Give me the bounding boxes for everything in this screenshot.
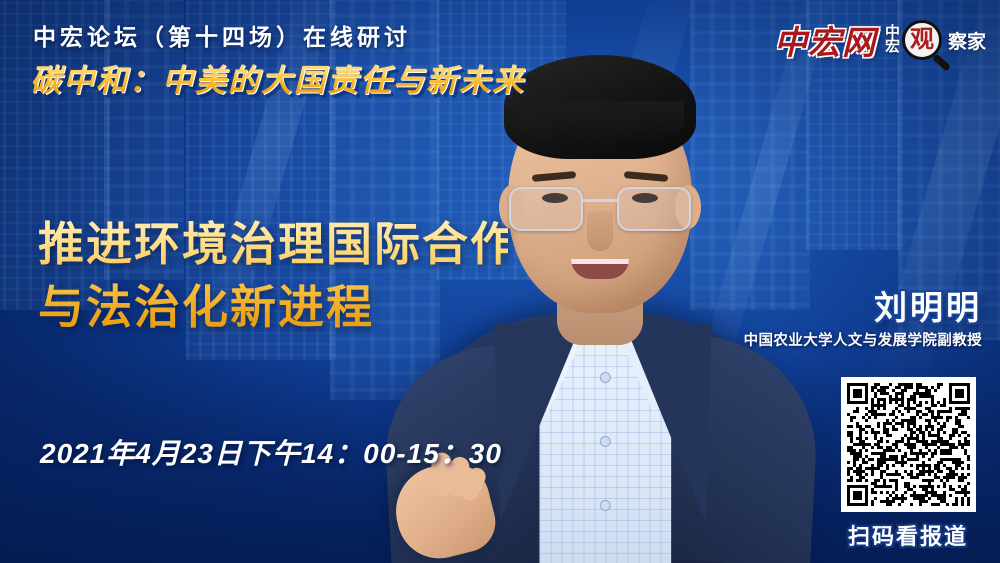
glasses-icon bbox=[507, 187, 693, 233]
magnifier-handle-icon bbox=[932, 54, 951, 72]
qr-section[interactable]: 扫码看报道 bbox=[832, 377, 984, 551]
site-logo[interactable]: 中宏网 中 宏 观 察家 bbox=[774, 14, 986, 66]
qr-caption: 扫码看报道 bbox=[848, 519, 968, 551]
event-datetime: 2021年4月23日下午14：00-15：30 bbox=[40, 432, 502, 472]
forum-series-label: 中宏论坛（第十四场）在线研讨 bbox=[33, 18, 411, 52]
observer-tail-text: 察家 bbox=[948, 27, 986, 54]
magnifier-icon: 观 bbox=[902, 20, 942, 60]
page-title: 推进环境治理国际合作 与法治化新进程 bbox=[38, 213, 508, 340]
qr-code[interactable] bbox=[841, 377, 976, 512]
page-title-line1: 推进环境治理国际合作 bbox=[38, 213, 508, 276]
forum-theme-title: 碳中和：中美的大国责任与新未来 bbox=[30, 55, 525, 100]
brand-wordmark: 中宏网 bbox=[774, 16, 876, 64]
webinar-poster: 中宏论坛（第十四场）在线研讨 碳中和：中美的大国责任与新未来 中宏网 中 宏 观… bbox=[0, 0, 1000, 563]
magnifier-char: 观 bbox=[910, 28, 934, 52]
observer-logo: 中 宏 观 察家 bbox=[885, 16, 986, 64]
speaker-affiliation: 中国农业大学人文与发展学院副教授 bbox=[744, 329, 982, 350]
speaker-name: 刘明明 bbox=[874, 281, 982, 329]
page-title-line2: 与法治化新进程 bbox=[38, 276, 508, 339]
observer-char-bottom: 宏 bbox=[885, 40, 900, 54]
